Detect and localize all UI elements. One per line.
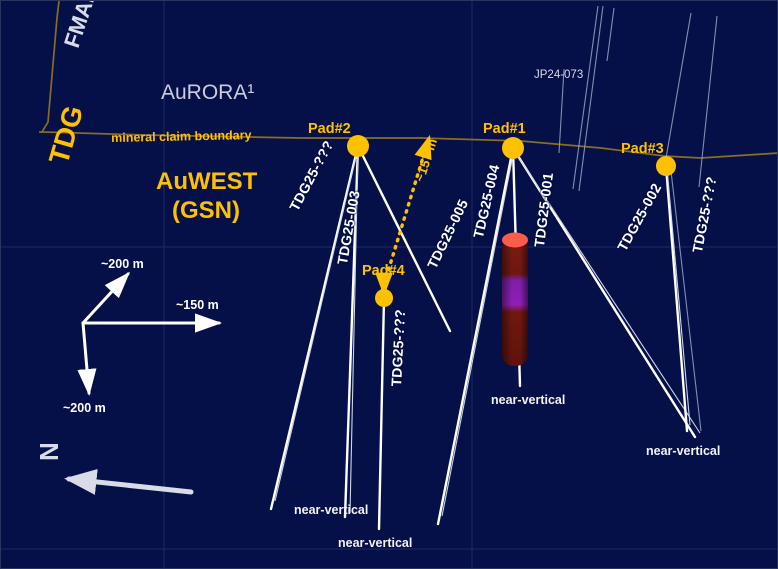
core-collar-cap bbox=[502, 233, 528, 248]
drill-trace-pad4 bbox=[379, 298, 384, 529]
core-cylinder-tdg25-001 bbox=[502, 233, 528, 367]
dimension-arrow-157m bbox=[382, 138, 429, 293]
pad-marker-pad2 bbox=[347, 135, 369, 157]
mineral-claim-boundary bbox=[39, 1, 778, 158]
pad-marker-pad4 bbox=[375, 289, 393, 307]
north-arrow bbox=[69, 479, 191, 492]
scale-bar bbox=[83, 274, 219, 393]
map-canvas bbox=[1, 1, 778, 569]
drill-traces-pad1 bbox=[438, 148, 695, 524]
pad-marker-pad3 bbox=[656, 156, 676, 176]
drill-traces-pad3 bbox=[666, 166, 687, 431]
drill-traces-pad2 bbox=[271, 146, 450, 517]
pad-marker-pad1 bbox=[502, 137, 524, 159]
drill-traces-pad1-thin bbox=[442, 150, 700, 516]
historic-drill-traces bbox=[559, 6, 717, 431]
drillhole-plan-map: FMAR AuRORA¹ TDG AuWEST (GSN) mineral cl… bbox=[0, 0, 778, 569]
drill-traces-pad2-thin bbox=[275, 148, 358, 513]
drill-traces-pad3-thin bbox=[667, 168, 690, 425]
